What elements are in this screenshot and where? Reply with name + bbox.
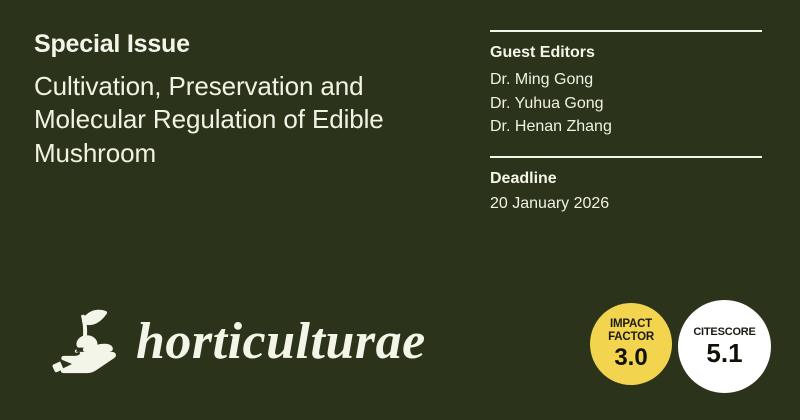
special-issue-kicker: Special Issue bbox=[34, 30, 474, 60]
citescore-label: CITESCORE bbox=[693, 326, 755, 338]
impact-factor-label-line1: IMPACT bbox=[610, 318, 652, 331]
guest-editor-name: Dr. Yuhua Gong bbox=[490, 92, 762, 116]
journal-wordmark: horticulturae bbox=[136, 316, 426, 368]
left-column: Special Issue Cultivation, Preservation … bbox=[34, 30, 474, 171]
divider-top bbox=[490, 30, 762, 32]
guest-editors-heading: Guest Editors bbox=[490, 43, 762, 63]
metric-badges: IMPACT FACTOR 3.0 CITESCORE 5.1 bbox=[588, 299, 778, 394]
impact-factor-value: 3.0 bbox=[614, 345, 647, 370]
guest-editor-name: Dr. Ming Gong bbox=[490, 68, 762, 92]
divider-bottom bbox=[490, 156, 762, 158]
deadline-heading: Deadline bbox=[490, 169, 762, 189]
right-column: Guest Editors Dr. Ming Gong Dr. Yuhua Go… bbox=[490, 30, 762, 214]
hand-holding-sprout-icon bbox=[46, 300, 130, 378]
journal-logo: horticulturae bbox=[46, 300, 426, 378]
citescore-value: 5.1 bbox=[706, 340, 742, 367]
special-issue-title: Cultivation, Preservation and Molecular … bbox=[34, 70, 474, 171]
guest-editors-list: Dr. Ming Gong Dr. Yuhua Gong Dr. Henan Z… bbox=[490, 68, 762, 139]
special-issue-banner: Special Issue Cultivation, Preservation … bbox=[0, 0, 800, 420]
impact-factor-label-line2: FACTOR bbox=[608, 331, 654, 344]
citescore-badge: CITESCORE 5.1 bbox=[678, 300, 771, 393]
deadline-date: 20 January 2026 bbox=[490, 194, 762, 214]
impact-factor-badge: IMPACT FACTOR 3.0 bbox=[590, 303, 672, 385]
guest-editor-name: Dr. Henan Zhang bbox=[490, 115, 762, 139]
